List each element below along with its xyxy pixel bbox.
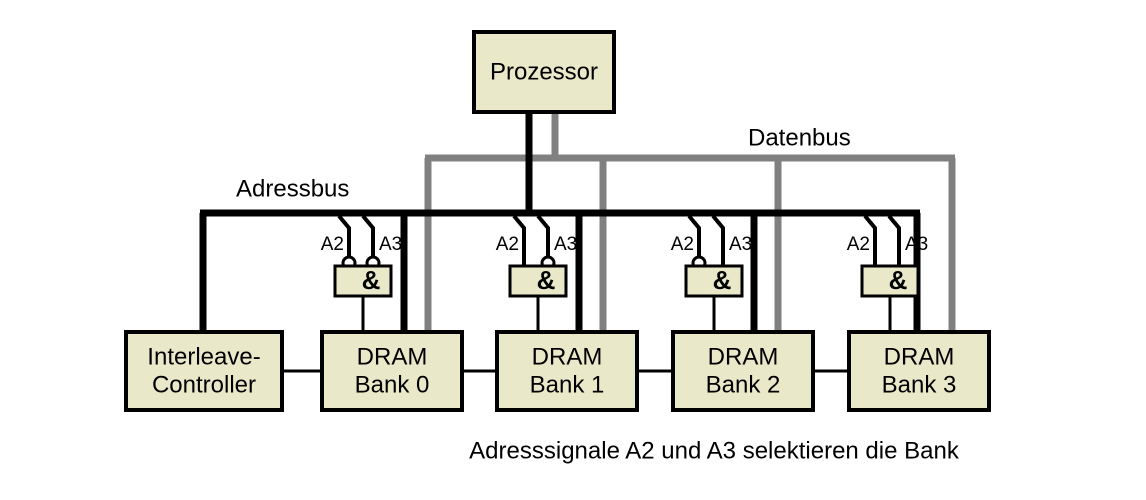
bank1-and-gate-glyph: & xyxy=(537,265,556,295)
bank1-group[interactable]: A2 A3 & DRAM Bank 1 xyxy=(496,216,637,410)
bank1-pin-label-a3: A3 xyxy=(554,234,577,255)
bank1-label-line2: Bank 1 xyxy=(530,371,605,398)
bank1-pin-label-a2: A2 xyxy=(496,234,519,255)
bank3-tap-a3 xyxy=(889,216,899,266)
bank0-label-line2: Bank 0 xyxy=(355,371,430,398)
bank0-pin-label-a2: A2 xyxy=(321,234,344,255)
bank0-label-line1: DRAM xyxy=(357,343,428,370)
bank3-pin-label-a3: A3 xyxy=(905,234,928,255)
interleave-controller-label-line2: Controller xyxy=(152,371,256,398)
address-bus-label: Adressbus xyxy=(236,175,349,202)
interleave-controller-node[interactable]: Interleave- Controller xyxy=(126,332,282,410)
processor-label: Prozessor xyxy=(490,58,598,85)
bank2-group[interactable]: A2 A3 & DRAM Bank 2 xyxy=(671,216,813,410)
bank3-pin-label-a2: A2 xyxy=(847,234,870,255)
bank0-pin-label-a3: A3 xyxy=(379,234,402,255)
processor-node[interactable]: Prozessor xyxy=(474,32,614,112)
bank2-pin-label-a2: A2 xyxy=(671,234,694,255)
bank2-and-gate-glyph: & xyxy=(713,265,732,295)
bank3-label-line1: DRAM xyxy=(884,343,955,370)
bank1-label-line1: DRAM xyxy=(532,343,603,370)
bank0-and-gate-glyph: & xyxy=(362,265,381,295)
bank0-tap-a3 xyxy=(363,216,373,258)
bank0-group[interactable]: A2 A3 & DRAM Bank 0 xyxy=(321,216,462,410)
data-bus-group xyxy=(425,112,955,336)
diagram-canvas: Prozessor Interleave- Controller A2 A3 & xyxy=(0,0,1146,500)
bank2-label-line1: DRAM xyxy=(708,343,779,370)
interleaving-diagram: Prozessor Interleave- Controller A2 A3 & xyxy=(0,0,1146,500)
bank3-and-gate-glyph: & xyxy=(889,265,908,295)
bank2-tap-a3 xyxy=(713,216,723,266)
bank2-label-line2: Bank 2 xyxy=(706,371,781,398)
diagram-caption: Adresssignale A2 und A3 selektieren die … xyxy=(469,437,960,464)
bank1-tap-a3 xyxy=(538,216,548,258)
data-bus-label: Datenbus xyxy=(748,124,851,151)
bank3-label-line2: Bank 3 xyxy=(882,371,957,398)
bank2-pin-label-a3: A3 xyxy=(729,234,752,255)
interleave-controller-label-line1: Interleave- xyxy=(147,343,260,370)
